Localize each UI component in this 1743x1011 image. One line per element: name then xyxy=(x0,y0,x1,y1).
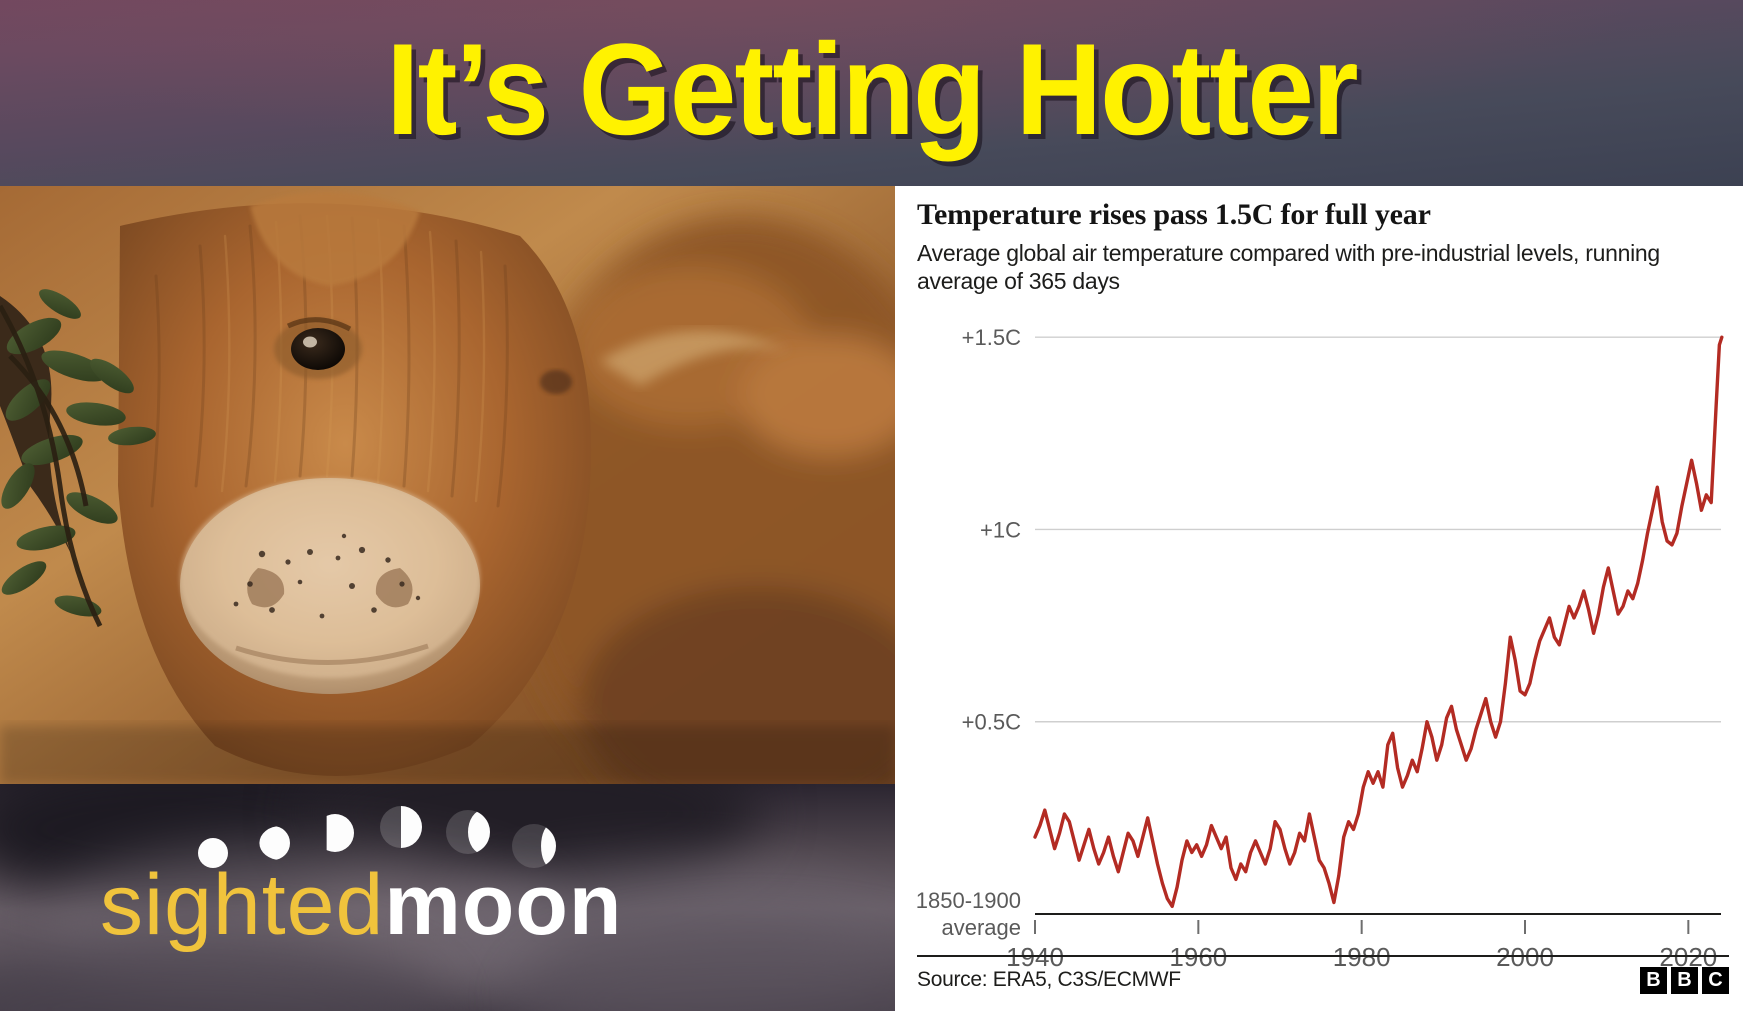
highland-cow-photo xyxy=(0,186,895,784)
wordmark-moon: moon xyxy=(384,857,622,953)
cow-illustration xyxy=(0,186,895,784)
bbc-letter-2: B xyxy=(1671,967,1698,994)
sightedmoon-logo-panel: sightedmoon xyxy=(0,784,895,1011)
y-axis-label: +1C xyxy=(980,517,1021,542)
bbc-chart-card: Temperature rises pass 1.5C for full yea… xyxy=(895,186,1743,1011)
y-axis-label: 1850-1900average xyxy=(916,888,1021,940)
chart-source: Source: ERA5, C3S/ECMWF xyxy=(917,962,1181,992)
bbc-letter-3: C xyxy=(1702,967,1729,994)
page-title: It’s Getting Hotter xyxy=(70,24,1674,154)
chart-title: Temperature rises pass 1.5C for full yea… xyxy=(917,198,1723,233)
y-axis-label: +0.5C xyxy=(962,710,1021,735)
moon-phase-3 xyxy=(316,814,354,852)
bbc-logo: B B C xyxy=(1640,961,1729,994)
chart-footer: Source: ERA5, C3S/ECMWF B B C xyxy=(917,955,1729,997)
slide-canvas: It’s Getting Hotter xyxy=(0,0,1743,1011)
data-line xyxy=(1035,337,1722,906)
moon-phase-2 xyxy=(256,826,290,860)
y-axis-label: +1.5C xyxy=(962,325,1021,350)
temperature-line-chart: 1850-1900average+0.5C+1C+1.5C19401960198… xyxy=(895,306,1743,1011)
chart-header: Temperature rises pass 1.5C for full yea… xyxy=(895,186,1743,296)
chart-subtitle: Average global air temperature compared … xyxy=(917,239,1707,297)
wordmark-sighted: sighted xyxy=(100,857,384,953)
sightedmoon-wordmark: sightedmoon xyxy=(100,862,622,948)
header-banner: It’s Getting Hotter xyxy=(0,0,1743,186)
chart-plot-area: 1850-1900average+0.5C+1C+1.5C19401960198… xyxy=(895,306,1743,1011)
bbc-letter-1: B xyxy=(1640,967,1667,994)
